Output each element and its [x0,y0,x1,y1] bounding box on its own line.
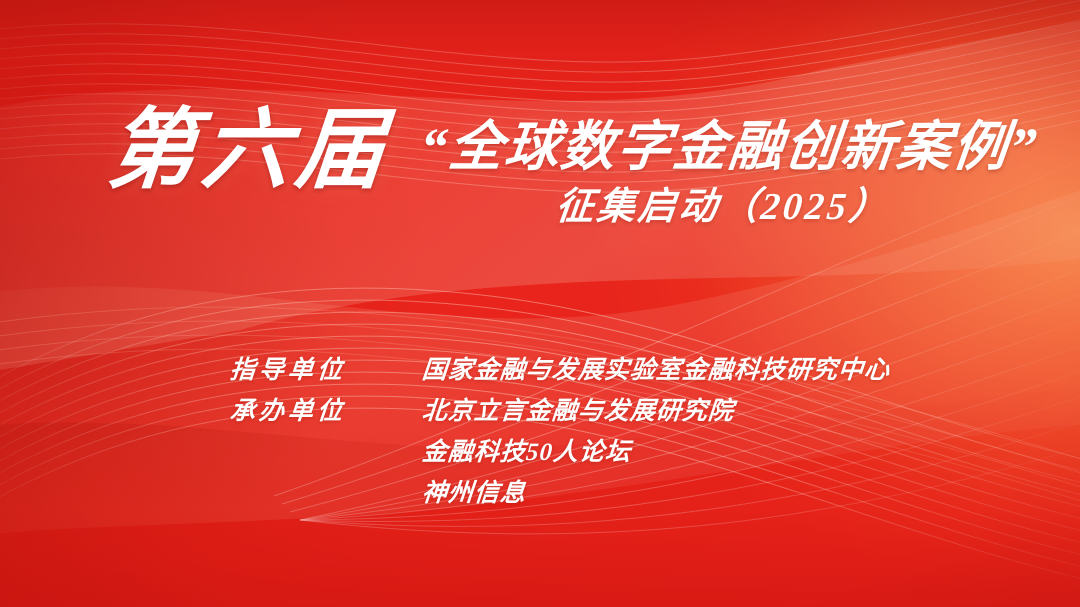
credit-label: 指导单位 [229,358,423,383]
credit-value: 国家金融与发展实验室金融科技研究中心 [421,358,891,383]
credit-row: 承办单位 北京立言金融与发展研究院 [230,399,990,440]
credit-value: 北京立言金融与发展研究院 [421,399,735,424]
credit-row: 金融科技50人论坛 [230,440,990,481]
page-title: “全球数字金融创新案例” [417,120,1041,174]
event-poster: 第六届 “全球数字金融创新案例” 征集启动（2025） 指导单位 国家金融与发展… [0,0,1080,607]
credits-block: 指导单位 国家金融与发展实验室金融科技研究中心 承办单位 北京立言金融与发展研究… [230,358,990,522]
credit-value: 神州信息 [421,481,527,506]
credit-label: 承办单位 [229,399,423,424]
page-subtitle: 征集启动（2025） [554,188,892,226]
credit-row: 指导单位 国家金融与发展实验室金融科技研究中心 [230,358,990,399]
edition-kicker: 第六届 [104,108,394,196]
credit-value: 金融科技50人论坛 [421,440,632,465]
credit-row: 神州信息 [230,481,990,522]
